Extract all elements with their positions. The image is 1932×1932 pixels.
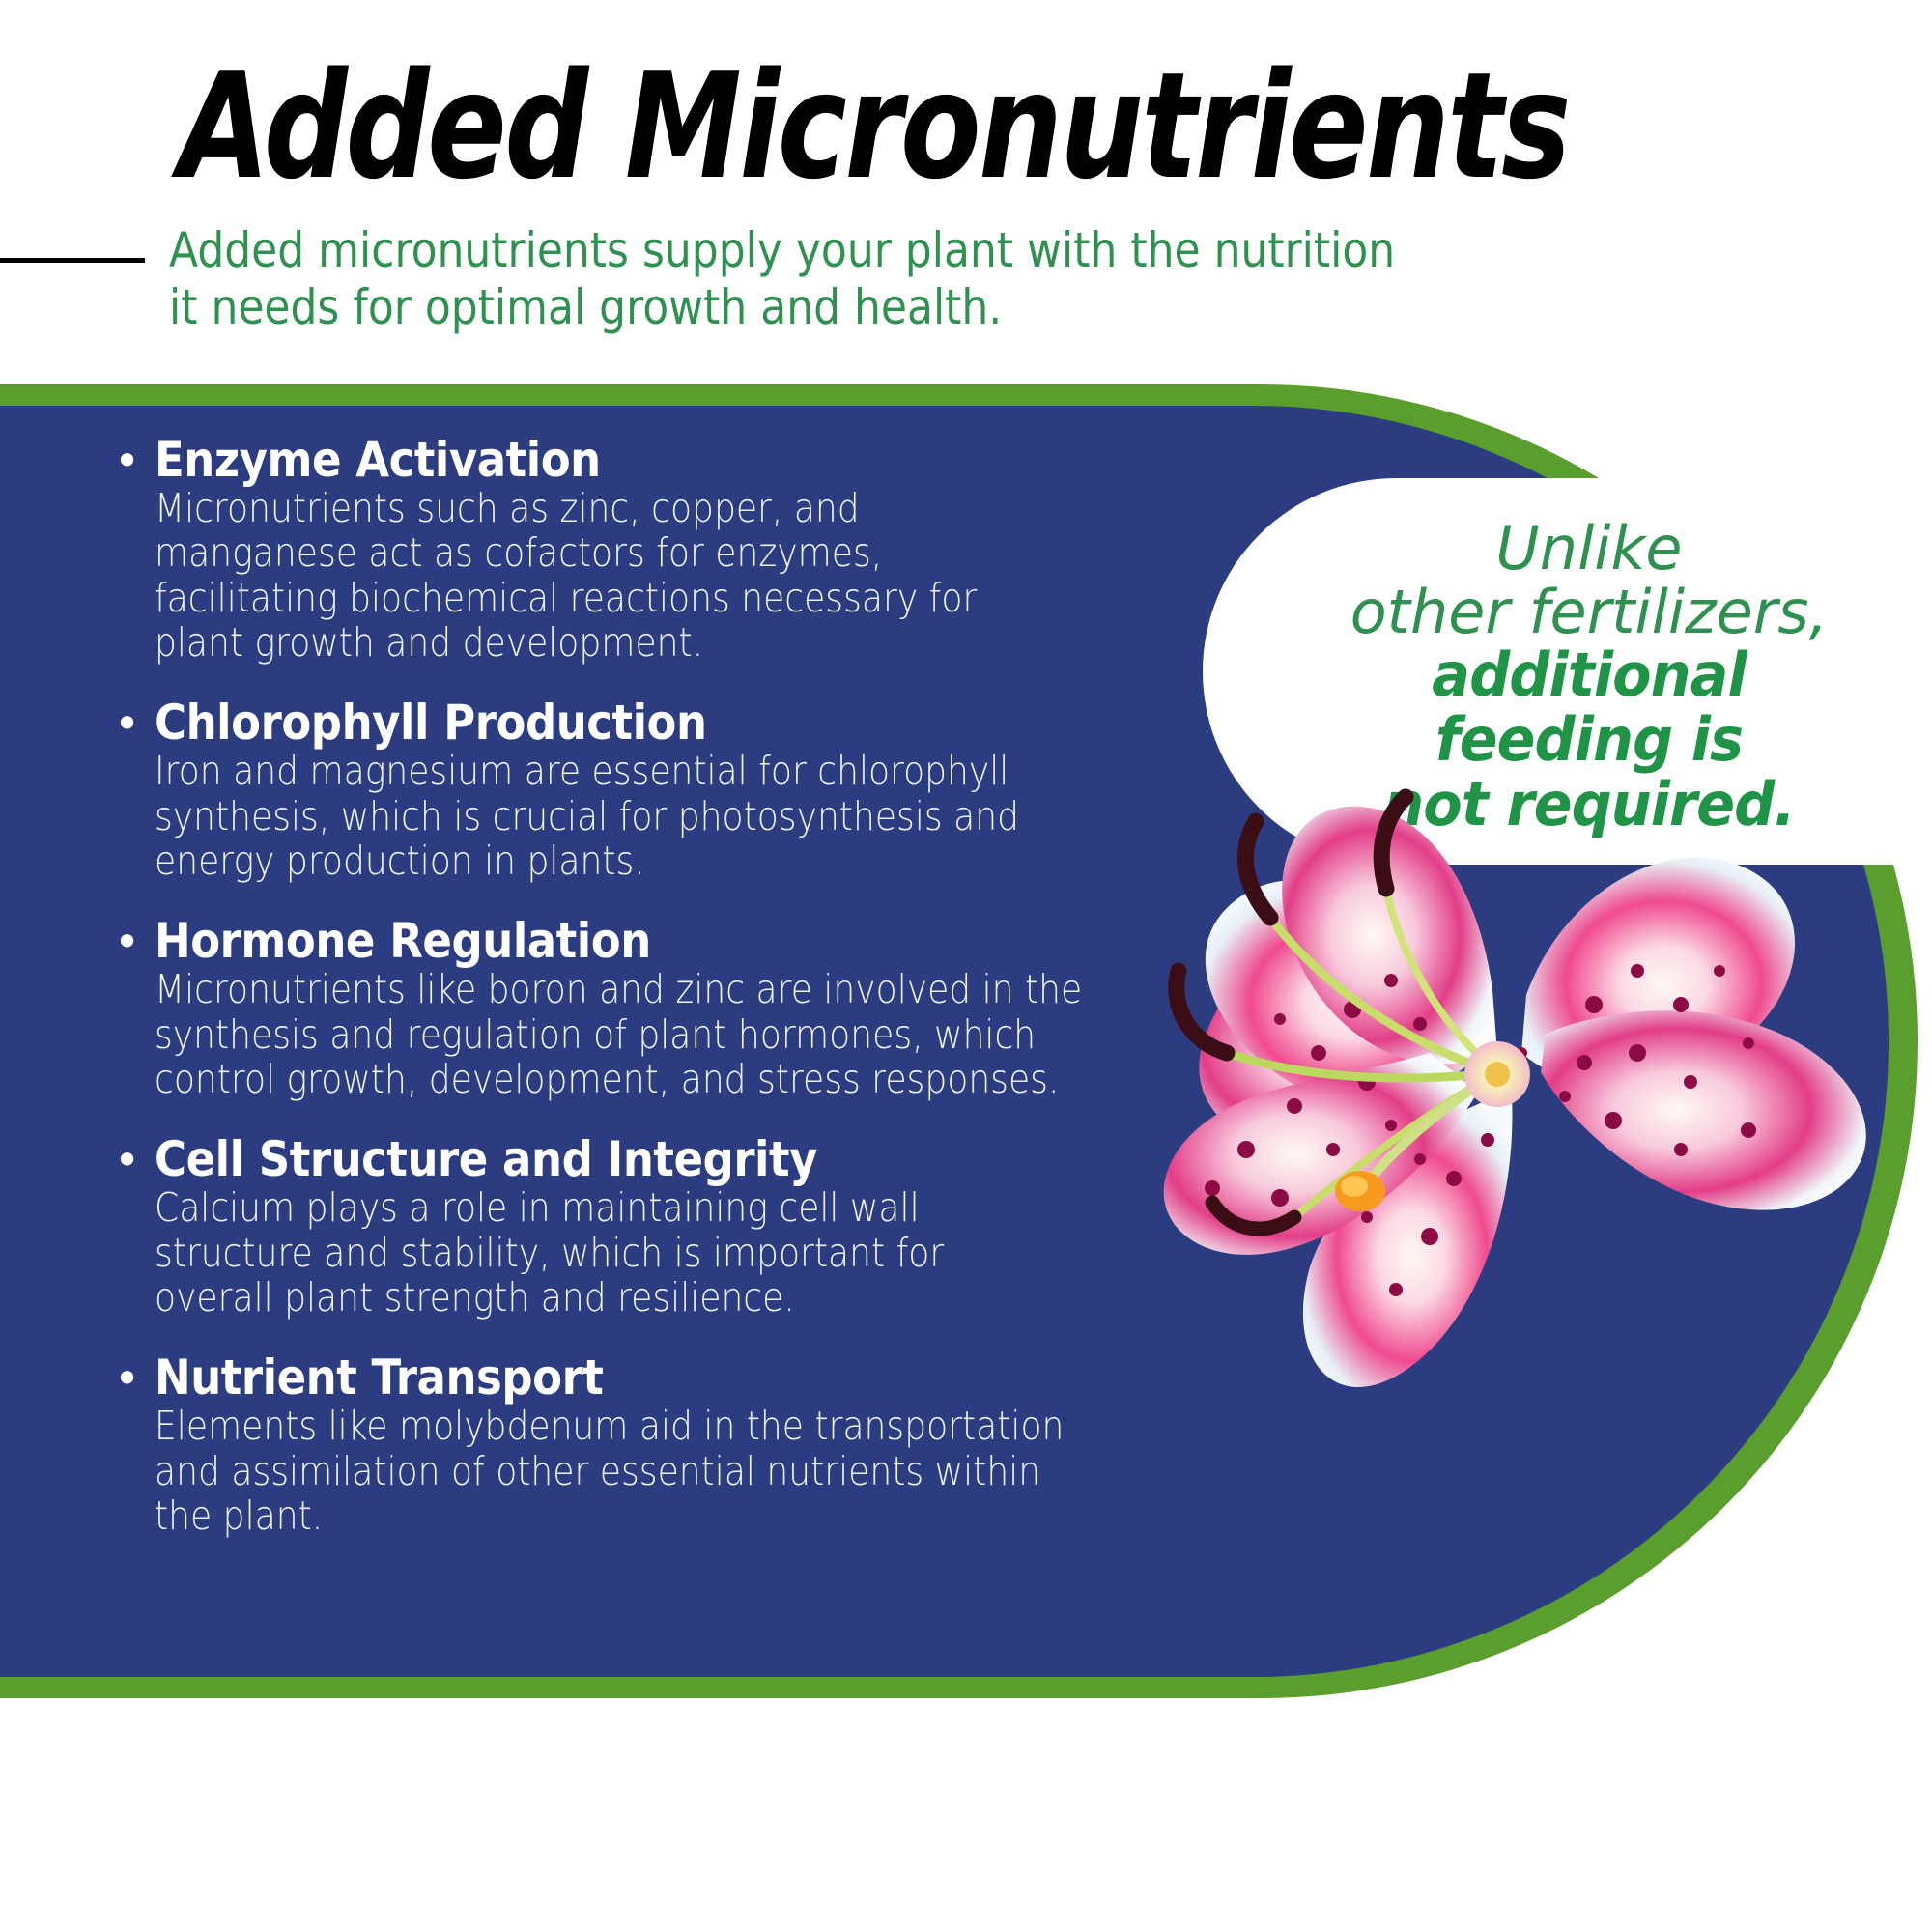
list-item-heading-row: • Nutrient Transport [114,1352,1273,1404]
subtitle-line-2: it needs for optimal growth and health. [169,279,1529,336]
body-line: Calcium plays a role in maintaining cell… [155,1185,1277,1230]
bullet-dot-icon: • [114,920,155,964]
list-item: • Hormone Regulation Micronutrients like… [114,916,1273,1101]
list-item-body: Calcium plays a role in maintaining cell… [155,1185,1277,1320]
bullet-dot-icon: • [114,1138,155,1182]
list-item-heading: Chlorophyll Production [155,697,707,749]
bullet-dot-icon: • [114,439,155,483]
infographic-page: Added Micronutrients Added micronutrient… [0,0,1932,1932]
list-item-body: Micronutrients like boron and zinc are i… [155,967,1277,1101]
body-line: Iron and magnesium are essential for chl… [155,749,1277,793]
list-item-heading: Cell Structure and Integrity [155,1134,817,1185]
body-line: control growth, development, and stress … [155,1057,1277,1101]
body-line: energy production in plants. [155,838,1277,883]
subtitle-line-1: Added micronutrients supply your plant w… [169,222,1529,279]
body-line: plant growth and development. [155,620,1277,665]
body-line: and assimilation of other essential nutr… [155,1449,1277,1493]
list-item-heading-row: • Cell Structure and Integrity [114,1134,1273,1185]
header: Added Micronutrients Added micronutrient… [0,0,1932,386]
body-line: synthesis and regulation of plant hormon… [155,1012,1277,1057]
callout-line-4: not required. [1305,773,1874,838]
list-item-body: Iron and magnesium are essential for chl… [155,749,1277,883]
list-item-heading: Enzyme Activation [155,435,601,486]
body-line: Elements like molybdenum aid in the tran… [155,1404,1277,1448]
body-line: overall plant strength and resilience. [155,1275,1277,1320]
callout-line-3: additional feeding is [1305,643,1874,773]
list-item-heading-row: • Hormone Regulation [114,916,1273,967]
body-line: Micronutrients like boron and zinc are i… [155,967,1277,1011]
body-line: facilitating biochemical reactions neces… [155,576,1277,620]
list-item: • Chlorophyll Production Iron and magnes… [114,697,1273,883]
title-rule [0,258,145,263]
callout-line-1: Unlike [1290,517,1889,581]
list-item-heading-row: • Enzyme Activation [114,435,1273,486]
list-item: • Cell Structure and Integrity Calcium p… [114,1134,1273,1320]
body-line: manganese act as cofactors for enzymes, [155,530,1277,575]
benefits-list: • Enzyme Activation Micronutrients such … [114,435,1273,1538]
list-item-body: Elements like molybdenum aid in the tran… [155,1404,1277,1538]
list-item-heading: Nutrient Transport [155,1352,603,1404]
bullet-dot-icon: • [114,701,155,746]
list-item-body: Micronutrients such as zinc, copper, and… [155,486,1277,665]
page-subtitle: Added micronutrients supply your plant w… [169,222,1529,336]
callout-line-2: other fertilizers, [1290,581,1889,644]
body-line: structure and stability, which is import… [155,1231,1277,1275]
body-line: synthesis, which is crucial for photosyn… [155,794,1277,838]
bullet-dot-icon: • [114,1356,155,1401]
body-line: the plant. [155,1493,1277,1538]
list-item-heading: Hormone Regulation [155,916,651,967]
list-item-heading-row: • Chlorophyll Production [114,697,1273,749]
page-title: Added Micronutrients [179,53,1539,200]
list-item: • Nutrient Transport Elements like molyb… [114,1352,1273,1538]
list-item: • Enzyme Activation Micronutrients such … [114,435,1273,665]
callout-box: Unlike other fertilizers, additional fee… [1203,478,1932,865]
body-line: Micronutrients such as zinc, copper, and [155,486,1277,530]
